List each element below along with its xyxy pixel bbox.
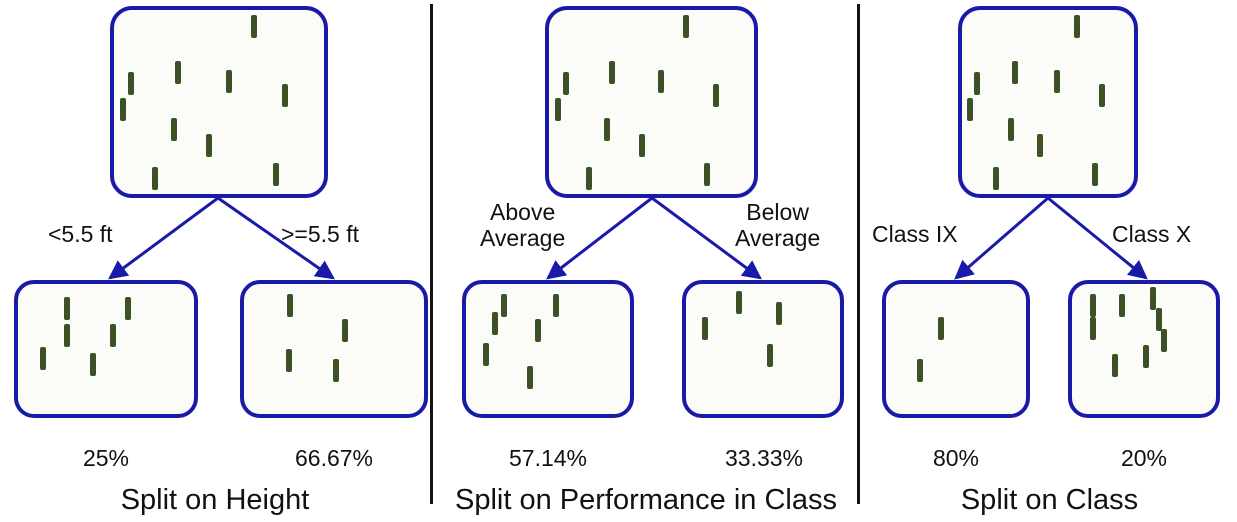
- red-cross-icon: [736, 320, 766, 350]
- green-rectangle-icon: [120, 101, 150, 116]
- red-cross-icon: [979, 318, 1009, 348]
- green-rectangle-icon: [152, 170, 182, 185]
- green-rectangle-icon: [1150, 290, 1180, 305]
- edge-label-performance-left: AboveAverage: [480, 200, 565, 252]
- root-node-performance: [545, 6, 758, 198]
- green-rectangle-icon: [604, 121, 634, 136]
- red-cross-icon: [705, 346, 735, 376]
- edge-label-line: Average: [480, 225, 565, 251]
- edge-label-height-right: >=5.5 ft: [281, 222, 359, 248]
- red-cross-icon: [565, 32, 595, 62]
- green-rectangle-icon: [251, 18, 281, 33]
- green-rectangle-icon: [1054, 73, 1084, 88]
- green-rectangle-icon: [1074, 18, 1104, 33]
- green-rectangle-icon: [535, 322, 565, 337]
- green-rectangle-icon: [713, 87, 743, 102]
- green-rectangle-icon: [1099, 87, 1129, 102]
- edge-label-line: >=5.5 ft: [281, 221, 359, 247]
- green-rectangle-icon: [658, 73, 688, 88]
- green-rectangle-icon: [286, 352, 316, 367]
- red-cross-icon: [1034, 27, 1064, 57]
- green-rectangle-icon: [993, 170, 1023, 185]
- green-rectangle-icon: [171, 121, 201, 136]
- edge-label-line: Above: [490, 199, 555, 225]
- green-rectangle-icon: [90, 356, 120, 371]
- green-rectangle-icon: [40, 350, 70, 365]
- percent-label-class-ix: 80%: [876, 445, 1036, 472]
- red-cross-icon: [578, 318, 608, 348]
- green-rectangle-icon: [1037, 137, 1067, 152]
- red-cross-icon: [894, 297, 924, 327]
- red-cross-icon: [953, 291, 983, 321]
- green-rectangle-icon: [501, 297, 531, 312]
- red-cross-icon: [1007, 27, 1037, 57]
- green-rectangle-icon: [1112, 357, 1142, 372]
- green-rectangle-icon: [967, 101, 997, 116]
- caption-split-on-performance: Split on Performance in Class: [434, 484, 858, 517]
- root-node-class: [958, 6, 1138, 198]
- red-cross-icon: [542, 336, 572, 366]
- panel-divider-1: [430, 4, 433, 504]
- green-rectangle-icon: [125, 300, 155, 315]
- green-rectangle-icon: [683, 18, 713, 33]
- percent-label-class-x: 20%: [1064, 445, 1224, 472]
- green-rectangle-icon: [483, 346, 513, 361]
- green-rectangle-icon: [206, 137, 236, 152]
- edge-label-line: Average: [735, 225, 820, 251]
- red-cross-icon: [603, 27, 633, 57]
- green-rectangle-icon: [702, 320, 732, 335]
- caption-split-on-height: Split on Height: [0, 484, 430, 517]
- green-rectangle-icon: [1161, 332, 1191, 347]
- red-cross-icon: [28, 297, 58, 327]
- green-rectangle-icon: [555, 101, 585, 116]
- red-cross-icon: [253, 297, 283, 327]
- red-cross-icon: [894, 327, 924, 357]
- green-rectangle-icon: [1090, 297, 1120, 312]
- red-cross-icon: [131, 32, 161, 62]
- red-cross-icon: [575, 357, 605, 387]
- percent-label-above-5-5ft: 66.67%: [254, 445, 414, 472]
- root-node-height: [110, 6, 328, 198]
- green-rectangle-icon: [553, 297, 583, 312]
- green-rectangle-icon: [333, 362, 363, 377]
- green-rectangle-icon: [938, 320, 968, 335]
- green-rectangle-icon: [527, 369, 557, 384]
- green-rectangle-icon: [736, 294, 766, 309]
- green-rectangle-icon: [1008, 121, 1038, 136]
- green-rectangle-icon: [609, 64, 639, 79]
- green-rectangle-icon: [586, 170, 616, 185]
- red-cross-icon: [169, 27, 199, 57]
- green-rectangle-icon: [1012, 64, 1042, 79]
- green-rectangle-icon: [282, 87, 312, 102]
- edge-label-line: Class X: [1112, 221, 1191, 247]
- red-cross-icon: [375, 319, 405, 349]
- red-cross-icon: [1073, 39, 1103, 69]
- red-cross-icon: [250, 39, 280, 69]
- child-node-above-average: [462, 280, 634, 418]
- edge-label-height-left: <5.5 ft: [48, 222, 113, 248]
- green-rectangle-icon: [563, 75, 593, 90]
- red-cross-icon: [681, 39, 711, 69]
- percent-label-below-5-5ft: 25%: [26, 445, 186, 472]
- green-rectangle-icon: [917, 362, 947, 377]
- green-rectangle-icon: [776, 305, 806, 320]
- green-rectangle-icon: [492, 315, 522, 330]
- green-rectangle-icon: [342, 322, 372, 337]
- green-rectangle-icon: [974, 75, 1004, 90]
- green-rectangle-icon: [226, 73, 256, 88]
- child-node-above-5-5ft: [240, 280, 428, 418]
- red-cross-icon: [976, 32, 1006, 62]
- red-cross-icon: [973, 359, 1003, 389]
- edge-label-performance-right: BelowAverage: [735, 200, 820, 252]
- child-node-below-average: [682, 280, 844, 418]
- child-node-below-5-5ft: [14, 280, 198, 418]
- red-cross-icon: [676, 84, 706, 114]
- red-cross-icon: [202, 27, 232, 57]
- green-rectangle-icon: [767, 347, 797, 362]
- red-cross-icon: [635, 27, 665, 57]
- edge-label-line: Class IX: [872, 221, 958, 247]
- green-rectangle-icon: [1092, 166, 1122, 181]
- panel-divider-2: [857, 4, 860, 504]
- green-rectangle-icon: [287, 297, 317, 312]
- caption-split-on-class: Split on Class: [862, 484, 1237, 517]
- green-rectangle-icon: [1090, 320, 1120, 335]
- child-node-class-x: [1068, 280, 1220, 418]
- green-rectangle-icon: [1156, 311, 1186, 326]
- percent-label-above-average: 57.14%: [468, 445, 628, 472]
- green-rectangle-icon: [1119, 297, 1149, 312]
- red-cross-icon: [1068, 84, 1098, 114]
- decision-tree-figure: <5.5 ft >=5.5 ft 25% 66.67% Split on Hei…: [0, 0, 1237, 522]
- edge-label-line: Below: [746, 199, 809, 225]
- child-node-class-ix: [882, 280, 1030, 418]
- green-rectangle-icon: [64, 300, 94, 315]
- edge-label-class-right: Class X: [1112, 222, 1191, 248]
- red-cross-icon: [244, 84, 274, 114]
- green-rectangle-icon: [1143, 348, 1173, 363]
- green-rectangle-icon: [273, 166, 303, 181]
- green-rectangle-icon: [64, 327, 94, 342]
- green-rectangle-icon: [110, 327, 140, 342]
- green-rectangle-icon: [639, 137, 669, 152]
- percent-label-below-average: 33.33%: [684, 445, 844, 472]
- edge-label-class-left: Class IX: [872, 222, 958, 248]
- green-rectangle-icon: [175, 64, 205, 79]
- edge-label-line: <5.5 ft: [48, 221, 113, 247]
- red-cross-icon: [1116, 315, 1146, 345]
- green-rectangle-icon: [704, 166, 734, 181]
- green-rectangle-icon: [128, 75, 158, 90]
